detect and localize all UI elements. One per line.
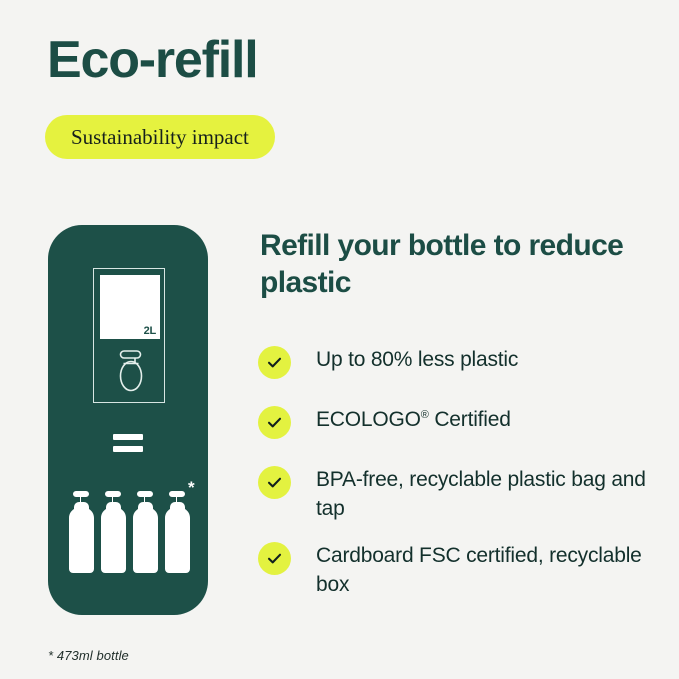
page-title: Eco-refill (47, 32, 258, 88)
list-item: Cardboard FSC certified, recyclable box (258, 536, 668, 599)
registered-trademark-symbol: ® (421, 409, 429, 421)
sustainability-impact-badge: Sustainability impact (45, 115, 275, 159)
bottle-row (67, 487, 193, 577)
benefit-label: ECOLOGO® Certified (316, 400, 511, 434)
benefit-label-main: ECOLOGO (316, 408, 421, 431)
check-icon (258, 542, 291, 575)
benefit-label: BPA-free, recyclable plastic bag and tap (316, 460, 668, 523)
equals-sign-icon (113, 434, 143, 452)
sustainability-impact-label: Sustainability impact (71, 125, 249, 150)
pump-bottle-icon (67, 487, 96, 577)
check-icon (258, 406, 291, 439)
benefits-list: Up to 80% less plastic ECOLOGO® Certifie… (258, 340, 668, 612)
benefit-label: Cardboard FSC certified, recyclable box (316, 536, 668, 599)
benefit-label: Up to 80% less plastic (316, 340, 518, 374)
main-heading: Refill your bottle to reduce plastic (260, 227, 630, 301)
product-illustration-card: 2L (48, 225, 208, 615)
tap-icon (112, 349, 150, 393)
list-item: BPA-free, recyclable plastic bag and tap (258, 460, 668, 523)
asterisk-marker: * (188, 479, 195, 496)
volume-label: 2L (144, 326, 156, 337)
benefit-label-suffix: Certified (429, 408, 511, 431)
pump-bottle-icon (131, 487, 160, 577)
refill-box-window: 2L (100, 275, 160, 339)
pump-bottle-icon (99, 487, 128, 577)
list-item: Up to 80% less plastic (258, 340, 668, 387)
list-item: ECOLOGO® Certified (258, 400, 668, 447)
pump-bottle-icon (163, 487, 192, 577)
check-icon (258, 466, 291, 499)
refill-box-graphic: 2L (93, 268, 165, 403)
check-icon (258, 346, 291, 379)
footnote: * 473ml bottle (48, 648, 129, 663)
